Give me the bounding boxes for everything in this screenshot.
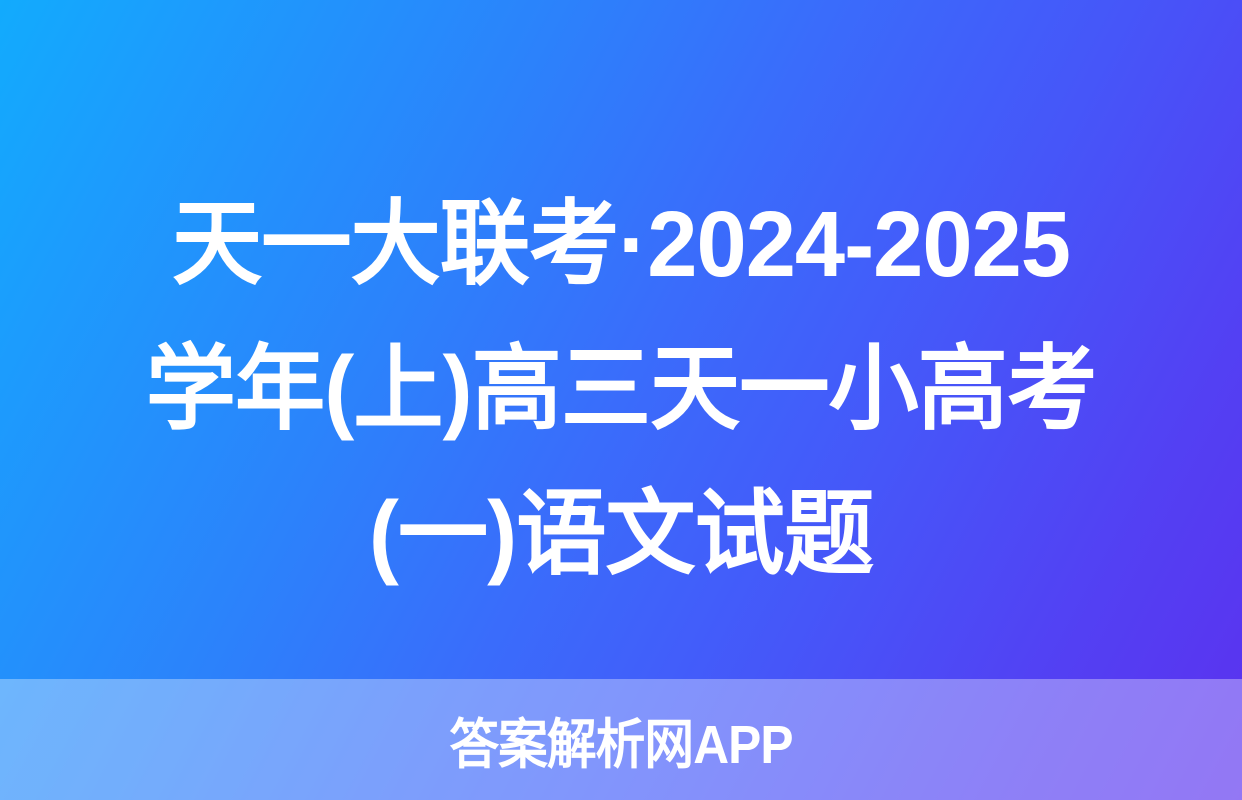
title-line-2: 学年(上)高三天一小高考 [19,317,1224,462]
title-line-3: (一)语文试题 [19,462,1224,607]
exam-cover-poster: 天一大联考·2024-2025 学年(上)高三天一小高考 (一)语文试题 答案解… [0,0,1242,800]
watermark-band: 答案解析网APP [0,679,1242,800]
page-title: 天一大联考·2024-2025 学年(上)高三天一小高考 (一)语文试题 [0,172,1242,607]
watermark-app-label: 答案解析网APP [50,679,1193,800]
title-line-1: 天一大联考·2024-2025 [19,172,1224,317]
